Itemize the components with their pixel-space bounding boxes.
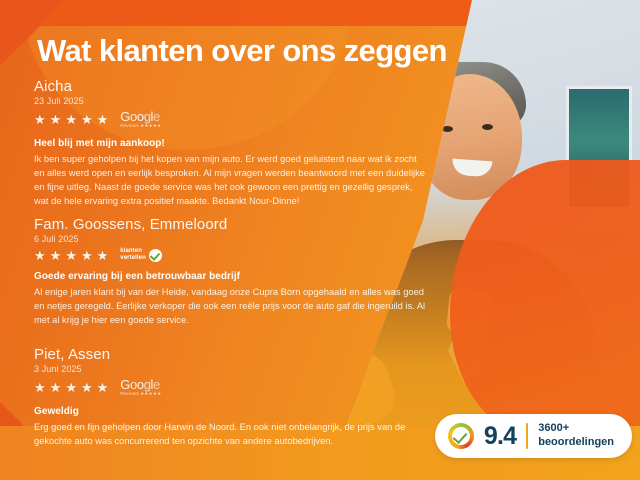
klantenvertellen-line1: klanten: [120, 248, 146, 255]
review-meta-row: ★ ★ ★ ★ ★ Google Reviews ★★★★★: [34, 110, 426, 129]
google-letter-o2: o: [137, 377, 144, 392]
star-icon: ★: [65, 113, 77, 126]
rating-count-label: beoordelingen: [538, 436, 614, 450]
review-body: Erg goed en fijn geholpen door Harwin de…: [34, 420, 426, 448]
review-meta-row: ★ ★ ★ ★ ★ Google Reviews ★★★★★: [34, 378, 426, 397]
check-seal-icon: [448, 423, 474, 449]
google-reviews-logo: Google Reviews ★★★★★: [120, 110, 161, 129]
review-meta-row: ★ ★ ★ ★ ★ klanten vertellen: [34, 248, 426, 262]
star-icon: ★: [34, 249, 46, 262]
star-icon: ★: [97, 249, 109, 262]
page-title: Wat klanten over ons zeggen: [37, 33, 447, 69]
google-wordmark: Google: [120, 110, 161, 123]
review-author-name: Fam. Goossens, Emmeloord: [34, 216, 426, 233]
klantenvertellen-wordmark: klanten vertellen: [120, 248, 146, 262]
star-icon: ★: [50, 381, 62, 394]
google-wordmark: Google: [120, 378, 161, 391]
rating-count-value: 3600+: [538, 422, 614, 436]
google-reviews-logo: Google Reviews ★★★★★: [120, 378, 161, 397]
review-body: Ik ben super geholpen bij het kopen van …: [34, 152, 426, 209]
star-rating: ★ ★ ★ ★ ★: [34, 381, 108, 394]
star-rating: ★ ★ ★ ★ ★: [34, 249, 108, 262]
promo-banner: VDH Wat klanten over ons zeggen Aicha 23…: [0, 0, 640, 480]
rating-divider: [526, 423, 528, 449]
rating-count-block: 3600+ beoordelingen: [538, 422, 614, 450]
google-reviews-subtext: Reviews ★★★★★: [120, 124, 161, 129]
klantenvertellen-line2: vertellen: [120, 255, 146, 262]
content-layer: Wat klanten over ons zeggen Aicha 23 Jul…: [0, 0, 640, 480]
review-date: 6 Juli 2025: [34, 234, 426, 244]
review-body: Al enige jaren klant bij van der Heide, …: [34, 285, 426, 327]
rating-badge[interactable]: 9.4 3600+ beoordelingen: [435, 414, 632, 458]
review-card-2: Fam. Goossens, Emmeloord 6 Juli 2025 ★ ★…: [34, 216, 426, 327]
star-icon: ★: [81, 381, 93, 394]
review-date: 23 Juli 2025: [34, 96, 426, 106]
google-letter-o1: o: [130, 377, 137, 392]
star-icon: ★: [34, 381, 46, 394]
google-letter-o1: o: [130, 109, 137, 124]
star-icon: ★: [81, 249, 93, 262]
star-icon: ★: [97, 113, 109, 126]
star-icon: ★: [97, 381, 109, 394]
review-author-name: Aicha: [34, 78, 426, 95]
google-letter-e: e: [153, 377, 160, 392]
review-title: Heel blij met mijn aankoop!: [34, 138, 426, 149]
star-icon: ★: [50, 113, 62, 126]
google-letter-o2: o: [137, 109, 144, 124]
star-icon: ★: [50, 249, 62, 262]
google-letter-g1: G: [120, 109, 130, 124]
star-icon: ★: [65, 381, 77, 394]
review-title: Geweldig: [34, 406, 426, 417]
google-letter-e: e: [153, 109, 160, 124]
review-author-name: Piet, Assen: [34, 346, 426, 363]
klantenvertellen-logo: klanten vertellen: [120, 248, 162, 262]
check-circle-icon: [149, 249, 162, 262]
rating-score: 9.4: [484, 424, 516, 449]
star-icon: ★: [65, 249, 77, 262]
google-reviews-subtext: Reviews ★★★★★: [120, 392, 161, 397]
review-date: 3 Juni 2025: [34, 364, 426, 374]
review-card-1: Aicha 23 Juli 2025 ★ ★ ★ ★ ★ Google Revi…: [34, 78, 426, 208]
star-rating: ★ ★ ★ ★ ★: [34, 113, 108, 126]
review-card-3: Piet, Assen 3 Juni 2025 ★ ★ ★ ★ ★ Google…: [34, 346, 426, 448]
star-icon: ★: [81, 113, 93, 126]
google-letter-g1: G: [120, 377, 130, 392]
review-title: Goede ervaring bij een betrouwbaar bedri…: [34, 271, 426, 282]
google-letter-g2: g: [144, 109, 151, 124]
star-icon: ★: [34, 113, 46, 126]
google-letter-g2: g: [144, 377, 151, 392]
